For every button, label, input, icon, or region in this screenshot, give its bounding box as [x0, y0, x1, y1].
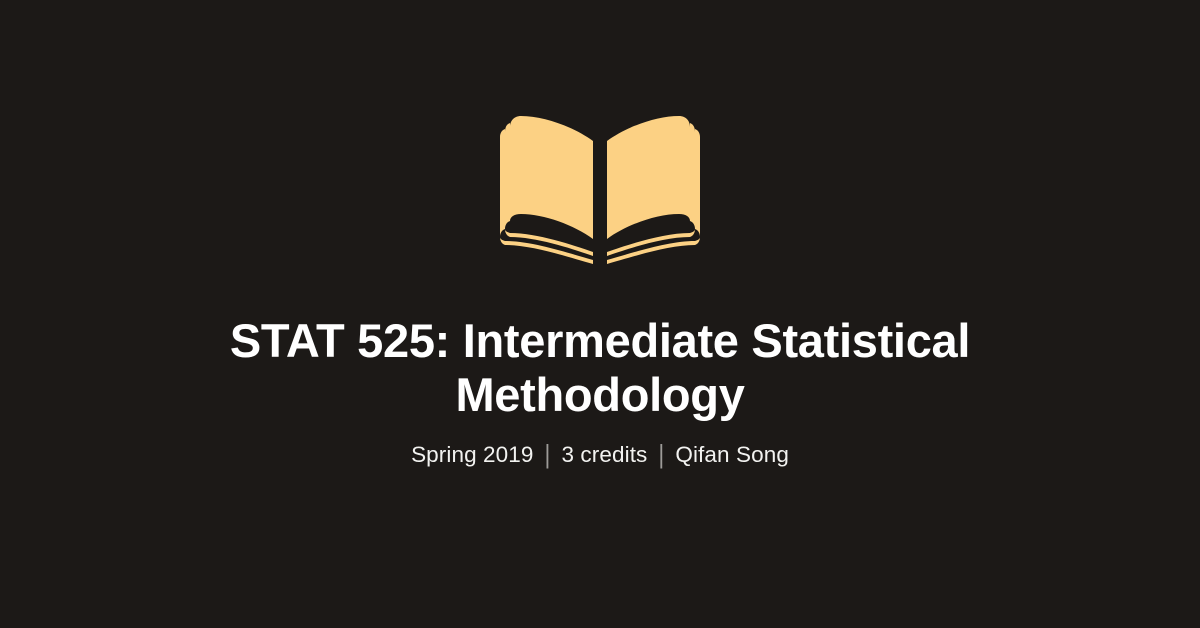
page-title: STAT 525: Intermediate Statistical Metho… — [95, 314, 1105, 421]
course-card: STAT 525: Intermediate Statistical Metho… — [0, 0, 1200, 628]
meta-separator: | — [647, 438, 675, 472]
open-book-icon — [496, 113, 704, 267]
meta-credits: 3 credits — [561, 440, 647, 469]
meta-term: Spring 2019 — [411, 440, 533, 469]
course-meta: Spring 2019 | 3 credits | Qifan Song — [95, 440, 1105, 469]
meta-instructor: Qifan Song — [675, 440, 789, 469]
title-block: STAT 525: Intermediate Statistical Metho… — [95, 314, 1105, 469]
meta-separator: | — [534, 438, 562, 472]
